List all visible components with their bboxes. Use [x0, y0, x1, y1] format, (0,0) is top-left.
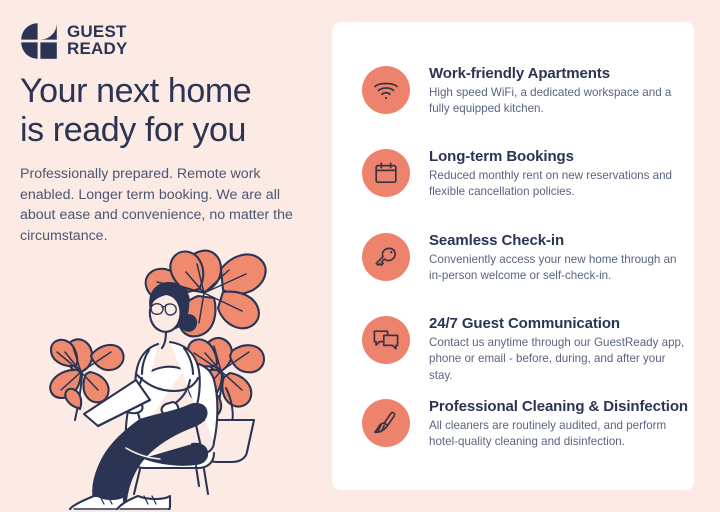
feature-item-long-term-bookings[interactable]: Long-term Bookings Reduced monthly rent …	[362, 147, 692, 201]
chat-bubbles-icon	[362, 316, 410, 364]
brand-logo[interactable]: GUEST READY	[20, 22, 128, 60]
feature-description: All cleaners are routinely audited, and …	[429, 418, 691, 451]
guestready-quadrant-logo-icon	[20, 22, 58, 60]
feature-card: Work-friendly Apartments High speed WiFi…	[332, 22, 694, 490]
feature-text: Professional Cleaning & Disinfection All…	[429, 397, 691, 451]
feature-text: Long-term Bookings Reduced monthly rent …	[429, 147, 691, 201]
feature-title: Work-friendly Apartments	[429, 65, 691, 82]
feature-text: Seamless Check-in Conveniently access yo…	[429, 231, 691, 285]
feature-item-professional-cleaning[interactable]: Professional Cleaning & Disinfection All…	[362, 397, 692, 451]
broom-icon	[362, 399, 410, 447]
feature-text: Work-friendly Apartments High speed WiFi…	[429, 64, 691, 118]
feature-item-work-friendly-apartments[interactable]: Work-friendly Apartments High speed WiFi…	[362, 64, 692, 118]
marketing-poster: GUEST READY Your next home is ready for …	[0, 0, 720, 512]
brand-name-line-2: READY	[67, 41, 128, 58]
calendar-icon	[362, 149, 410, 197]
feature-title: Professional Cleaning & Disinfection	[429, 398, 691, 415]
feature-item-guest-communication[interactable]: 24/7 Guest Communication Contact us anyt…	[362, 314, 692, 384]
hero-subtext: Professionally prepared. Remote work ena…	[20, 164, 297, 246]
left-column: GUEST READY Your next home is ready for …	[0, 0, 332, 512]
person-working-on-laptop-in-armchair-with-plants-illustration	[18, 238, 318, 510]
feature-description: Reduced monthly rent on new reservations…	[429, 168, 691, 201]
feature-description: Conveniently access your new home throug…	[429, 252, 691, 285]
feature-item-seamless-check-in[interactable]: Seamless Check-in Conveniently access yo…	[362, 231, 692, 285]
feature-title: 24/7 Guest Communication	[429, 315, 691, 332]
feature-description: High speed WiFi, a dedicated workspace a…	[429, 85, 691, 118]
key-icon	[362, 233, 410, 281]
page-title: Your next home is ready for you	[20, 72, 320, 150]
feature-title: Long-term Bookings	[429, 148, 691, 165]
feature-text: 24/7 Guest Communication Contact us anyt…	[429, 314, 691, 384]
brand-wordmark: GUEST READY	[67, 24, 128, 57]
feature-title: Seamless Check-in	[429, 232, 691, 249]
feature-description: Contact us anytime through our GuestRead…	[429, 335, 691, 384]
wifi-icon	[362, 66, 410, 114]
